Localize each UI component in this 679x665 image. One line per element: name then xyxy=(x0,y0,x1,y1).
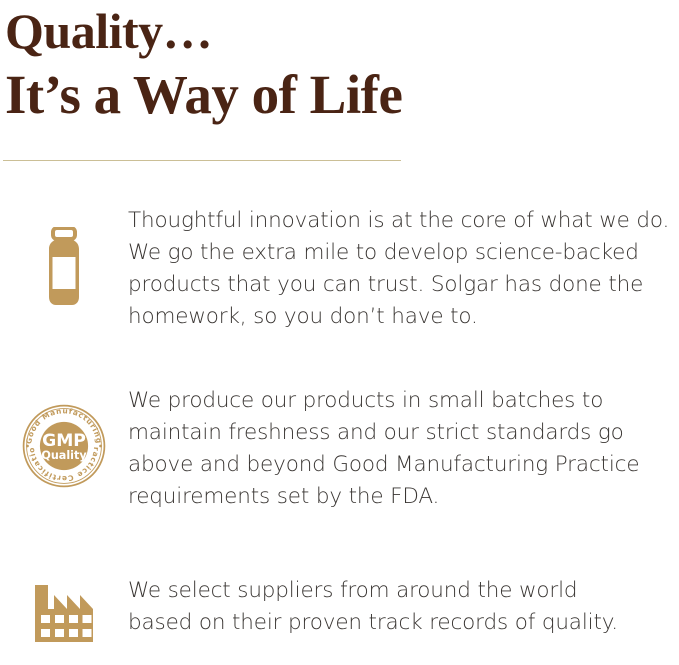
gmp-center-main: GMP xyxy=(42,431,86,451)
text-cell: We produce our products in small batches… xyxy=(128,385,679,513)
page-title-line-2: It’s a Way of Life xyxy=(5,64,645,126)
factory-icon xyxy=(30,583,98,645)
paragraph-line: products that you can trust. Solgar has … xyxy=(128,269,679,301)
paragraph-line: above and beyond Good Manufacturing Prac… xyxy=(128,449,679,481)
section-paragraph: We produce our products in small batches… xyxy=(128,385,679,513)
paragraph-line: based on their proven track records of q… xyxy=(128,607,679,639)
text-cell: We select suppliers from around the worl… xyxy=(128,575,679,639)
paragraph-line: We go the extra mile to develop science-… xyxy=(128,237,679,269)
paragraph-line: We select suppliers from around the worl… xyxy=(128,575,679,607)
quality-section-gmp: Good Manufacturing Practice Certificatio… xyxy=(0,385,679,575)
section-paragraph: Thoughtful innovation is at the core of … xyxy=(128,205,679,333)
quality-page: Quality… It’s a Way of Life Thoughtful i… xyxy=(0,0,679,663)
quality-section-bottle: Thoughtful innovation is at the core of … xyxy=(0,205,679,385)
paragraph-line: requirements set by the FDA. xyxy=(128,481,679,513)
paragraph-line: We produce our products in small batches… xyxy=(128,385,679,417)
section-paragraph: We select suppliers from around the worl… xyxy=(128,575,679,639)
quality-section-factory: We select suppliers from around the worl… xyxy=(0,575,679,665)
page-title-line-1: Quality… xyxy=(5,2,645,60)
gmp-center-sub: Quality xyxy=(41,449,87,462)
icon-cell xyxy=(0,205,128,307)
text-cell: Thoughtful innovation is at the core of … xyxy=(128,205,679,333)
icon-cell: Good Manufacturing Practice Certificatio… xyxy=(0,385,128,489)
title-divider xyxy=(3,160,401,161)
quality-sections: Thoughtful innovation is at the core of … xyxy=(0,205,679,665)
gmp-quality-seal-icon: Good Manufacturing Practice Certificatio… xyxy=(21,403,107,489)
supplement-bottle-icon xyxy=(38,227,90,307)
paragraph-line: Thoughtful innovation is at the core of … xyxy=(128,205,679,237)
icon-cell xyxy=(0,575,128,645)
paragraph-line: homework, so you don’t have to. xyxy=(128,301,679,333)
page-title: Quality… It’s a Way of Life xyxy=(5,2,645,126)
paragraph-line: maintain freshness and our strict standa… xyxy=(128,417,679,449)
